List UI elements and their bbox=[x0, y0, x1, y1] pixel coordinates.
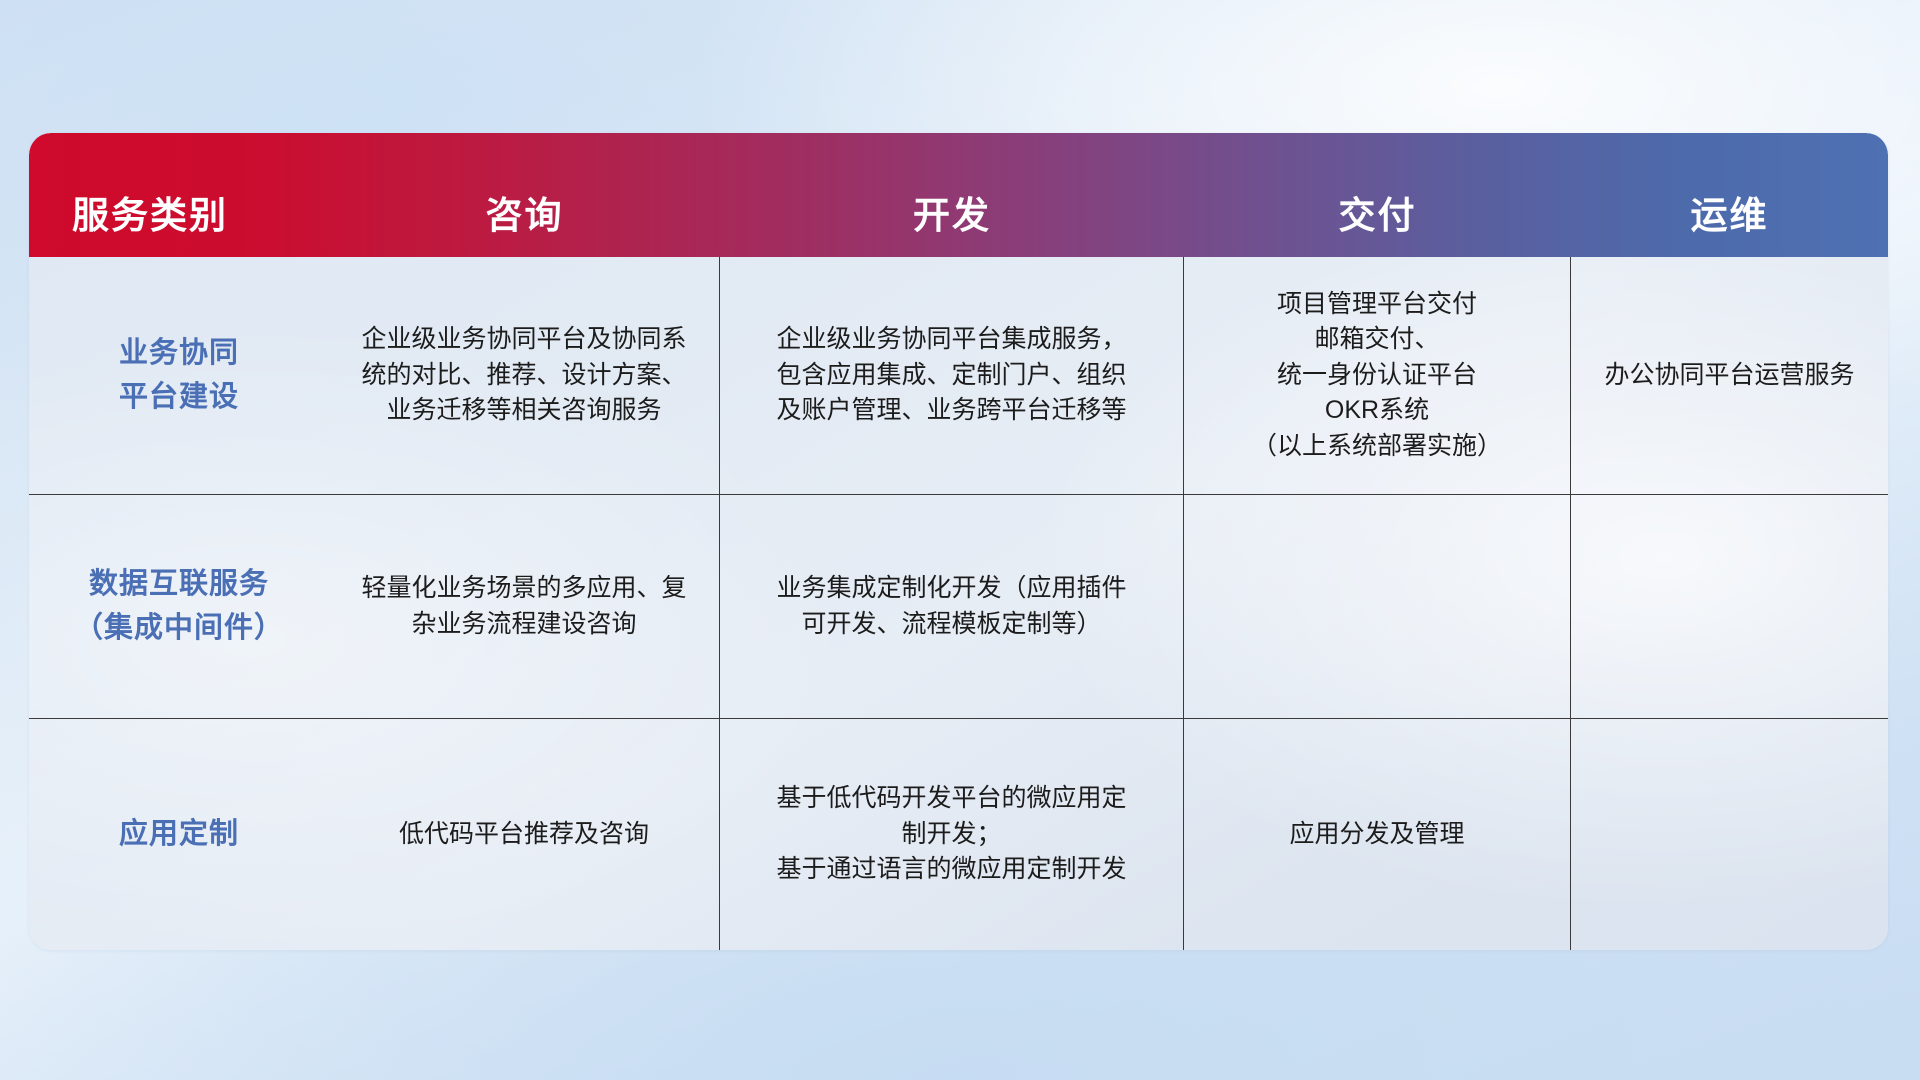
row-delivery-cell bbox=[1184, 495, 1571, 718]
table-body: 业务协同 平台建设 企业级业务协同平台及协同系 统的对比、推荐、设计方案、 业务… bbox=[29, 257, 1888, 950]
table-header-consulting: 咨询 bbox=[329, 185, 720, 257]
table-row: 业务协同 平台建设 企业级业务协同平台及协同系 统的对比、推荐、设计方案、 业务… bbox=[29, 257, 1888, 494]
table-row: 数据互联服务 （集成中间件） 轻量化业务场景的多应用、复 杂业务流程建设咨询 业… bbox=[29, 494, 1888, 718]
row-category-label: 业务协同 平台建设 bbox=[29, 257, 329, 494]
row-operations-cell: 办公协同平台运营服务 bbox=[1571, 257, 1888, 494]
row-development-cell: 业务集成定制化开发（应用插件 可开发、流程模板定制等） bbox=[720, 495, 1184, 718]
row-consulting-cell: 企业级业务协同平台及协同系 统的对比、推荐、设计方案、 业务迁移等相关咨询服务 bbox=[329, 257, 720, 494]
table-header-service-category: 服务类别 bbox=[29, 185, 329, 257]
table-row: 应用定制 低代码平台推荐及咨询 基于低代码开发平台的微应用定 制开发； 基于通过… bbox=[29, 718, 1888, 950]
table-header-delivery: 交付 bbox=[1184, 185, 1571, 257]
row-development-cell: 企业级业务协同平台集成服务， 包含应用集成、定制门户、组织 及账户管理、业务跨平… bbox=[720, 257, 1184, 494]
service-matrix-card: 服务类别 咨询 开发 交付 运维 业务协同 平台建设 企业级业务协同平台及协同系… bbox=[29, 133, 1888, 950]
row-category-label: 数据互联服务 （集成中间件） bbox=[29, 495, 329, 718]
row-operations-cell bbox=[1571, 719, 1888, 950]
table-header-development: 开发 bbox=[720, 185, 1184, 257]
table-header-row: 服务类别 咨询 开发 交付 运维 bbox=[29, 133, 1888, 257]
row-consulting-cell: 低代码平台推荐及咨询 bbox=[329, 719, 720, 950]
row-category-label: 应用定制 bbox=[29, 719, 329, 950]
row-delivery-cell: 项目管理平台交付 邮箱交付、 统一身份认证平台 OKR系统 （以上系统部署实施） bbox=[1184, 257, 1571, 494]
row-development-cell: 基于低代码开发平台的微应用定 制开发； 基于通过语言的微应用定制开发 bbox=[720, 719, 1184, 950]
row-consulting-cell: 轻量化业务场景的多应用、复 杂业务流程建设咨询 bbox=[329, 495, 720, 718]
row-delivery-cell: 应用分发及管理 bbox=[1184, 719, 1571, 950]
row-operations-cell bbox=[1571, 495, 1888, 718]
table-header-operations: 运维 bbox=[1571, 185, 1888, 257]
